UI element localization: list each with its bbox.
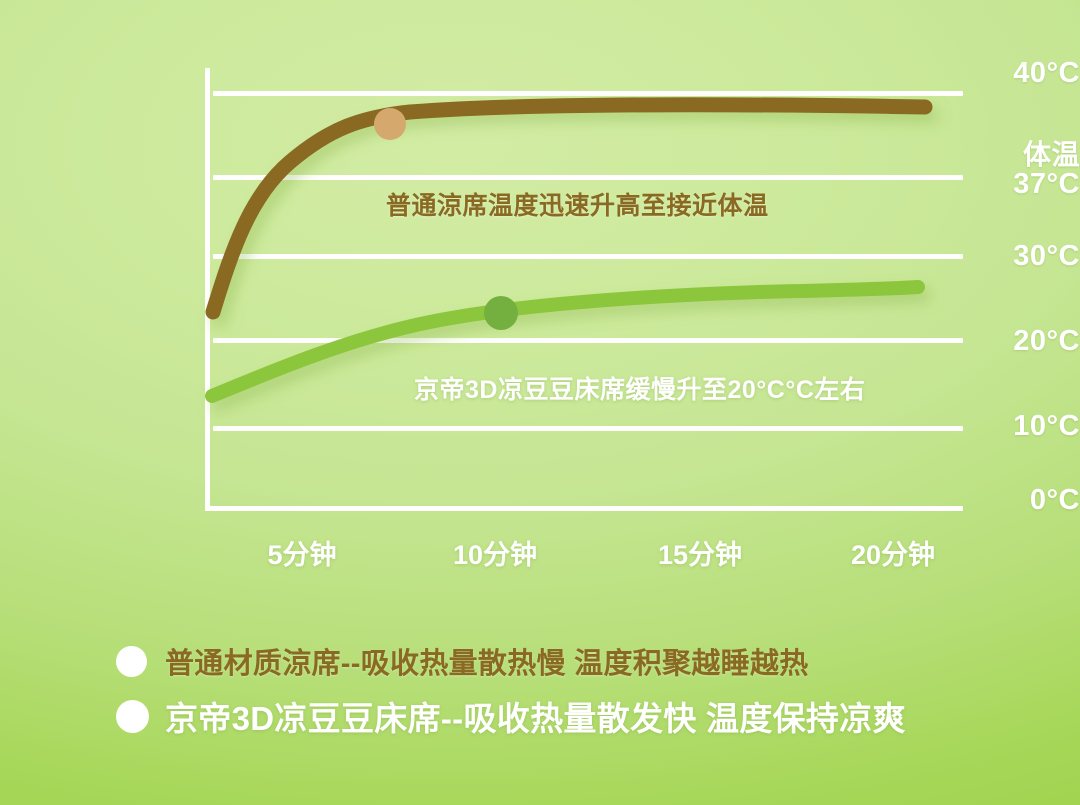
legend-item-jingdi-3d-mat: 京帝3D凉豆豆床席--吸收热量散发快 温度保持凉爽: [0, 692, 1080, 740]
series-curves: [0, 0, 1080, 610]
legend-bullet-icon: [116, 700, 149, 733]
temperature-line-chart: 40°C 体温 37°C 30°C 20°C 10°C 0°C 5分钟 10分钟…: [0, 0, 1080, 610]
legend-label-ordinary-mat: 普通材质涼席--吸收热量散热慢 温度积聚越睡越热: [165, 640, 809, 682]
temperature-comparison-poster: 40°C 体温 37°C 30°C 20°C 10°C 0°C 5分钟 10分钟…: [0, 0, 1080, 805]
jingdi-3d-mat-annotation: 京帝3D凉豆豆床席缓慢升至20°C°C左右: [414, 370, 865, 406]
ordinary-mat-data-marker: [374, 108, 406, 140]
legend-label-jingdi-3d-mat: 京帝3D凉豆豆床席--吸收热量散发快 温度保持凉爽: [165, 692, 906, 740]
ordinary-mat-annotation: 普通涼席温度迅速升高至接近体温: [386, 186, 769, 222]
chart-legend: 普通材质涼席--吸收热量散热慢 温度积聚越睡越热 京帝3D凉豆豆床席--吸收热量…: [0, 640, 1080, 750]
jingdi-3d-mat-data-marker: [484, 296, 518, 330]
legend-item-ordinary-mat: 普通材质涼席--吸收热量散热慢 温度积聚越睡越热: [0, 640, 1080, 682]
legend-bullet-icon: [116, 646, 147, 677]
